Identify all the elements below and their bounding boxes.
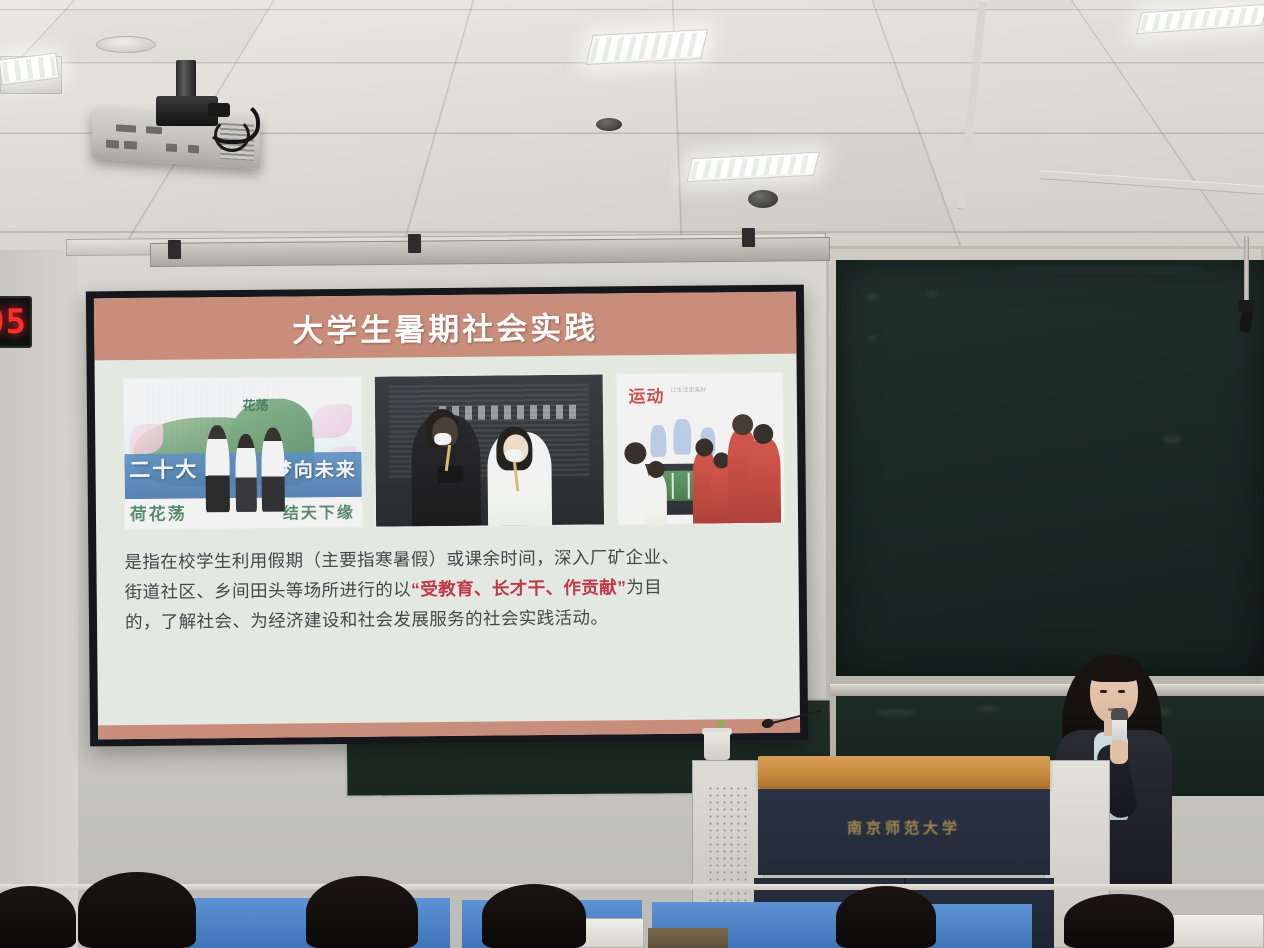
podium-wood-top (758, 756, 1050, 789)
slide-header-bar: 大学生暑期社会实践 (94, 292, 797, 361)
slide-body-text: 是指在校学生利用假期（主要指寒暑假）或课余时间，深入厂矿企业、 街道社区、乡间田… (124, 541, 771, 637)
microphone-head (1111, 708, 1128, 720)
rail-bracket (408, 234, 421, 253)
projection-screen: 大学生暑期社会实践 花荡 (86, 285, 808, 747)
presenter-hand (1110, 740, 1128, 764)
led-clock-digits: 05 (0, 302, 30, 342)
slide-title: 大学生暑期社会实践 (292, 302, 598, 350)
backdrop-text-main: 二十大 (129, 453, 198, 484)
left-wall (0, 250, 78, 948)
poster-title: 运动 (628, 381, 664, 406)
poster-subtitle: 让生活更美好 (670, 384, 706, 393)
backdrop-text-bottom: 荷花荡 (130, 499, 187, 525)
rail-bracket (742, 228, 755, 247)
microphone-joint (1238, 300, 1254, 312)
paper-cup (704, 732, 730, 760)
presenter-fringe (1086, 656, 1142, 682)
audience-head (836, 886, 936, 948)
audience-head (306, 876, 418, 948)
backdrop-text-bottom2: 结天下缘 (283, 498, 355, 523)
slide-body: 花荡 二十大 梦向未来 荷花荡 结天下缘 (94, 354, 799, 726)
desk-item (648, 928, 728, 948)
ceiling-speaker-vent (96, 36, 156, 53)
podium-front-panel: 南京师范大学 (758, 789, 1050, 875)
ceiling-light-panel (586, 29, 709, 65)
podium-university-name: 南京师范大学 (758, 817, 1050, 838)
ceiling (0, 0, 1264, 258)
audience-head (482, 884, 586, 948)
slide-text-line-3: 的，了解社会、为经济建设和社会发展服务的社会实践活动。 (125, 601, 771, 637)
projector-cable (214, 118, 250, 152)
photo-volunteers-foosball: 运动 让生活更美好 (616, 372, 785, 526)
photo-students-festival-backdrop: 花荡 二十大 梦向未来 荷花荡 结天下缘 (123, 376, 363, 530)
blackboard-assembly (826, 246, 1264, 796)
slide-text-line-1: 是指在校学生利用假期（主要指寒暑假）或课余时间，深入厂矿企业、 (124, 541, 770, 577)
photo-two-masked-visitors (374, 373, 605, 527)
backdrop-text-right: 梦向未来 (273, 455, 357, 483)
lecture-hall-scene: 05 大学生暑期社会实践 (0, 0, 1264, 948)
ceiling-camera-icon (748, 190, 778, 208)
smoke-detector-icon (596, 118, 622, 131)
presentation-slide: 大学生暑期社会实践 花荡 (94, 292, 800, 740)
backdrop-text-top: 花荡 (242, 394, 268, 413)
slide-photo-row: 花荡 二十大 梦向未来 荷花荡 结天下缘 (123, 372, 770, 530)
classroom-blackboard (836, 260, 1264, 676)
led-clock-display: 05 (0, 296, 32, 348)
line2-after: 为目 (626, 577, 662, 597)
audience-head (1064, 894, 1174, 948)
line2-before: 街道社区、乡间田头等场所进行的以 (125, 579, 412, 602)
line2-highlight: “受教育、长才干、作贡献” (411, 577, 626, 599)
audience-head (78, 872, 196, 948)
rail-bracket (168, 240, 181, 259)
